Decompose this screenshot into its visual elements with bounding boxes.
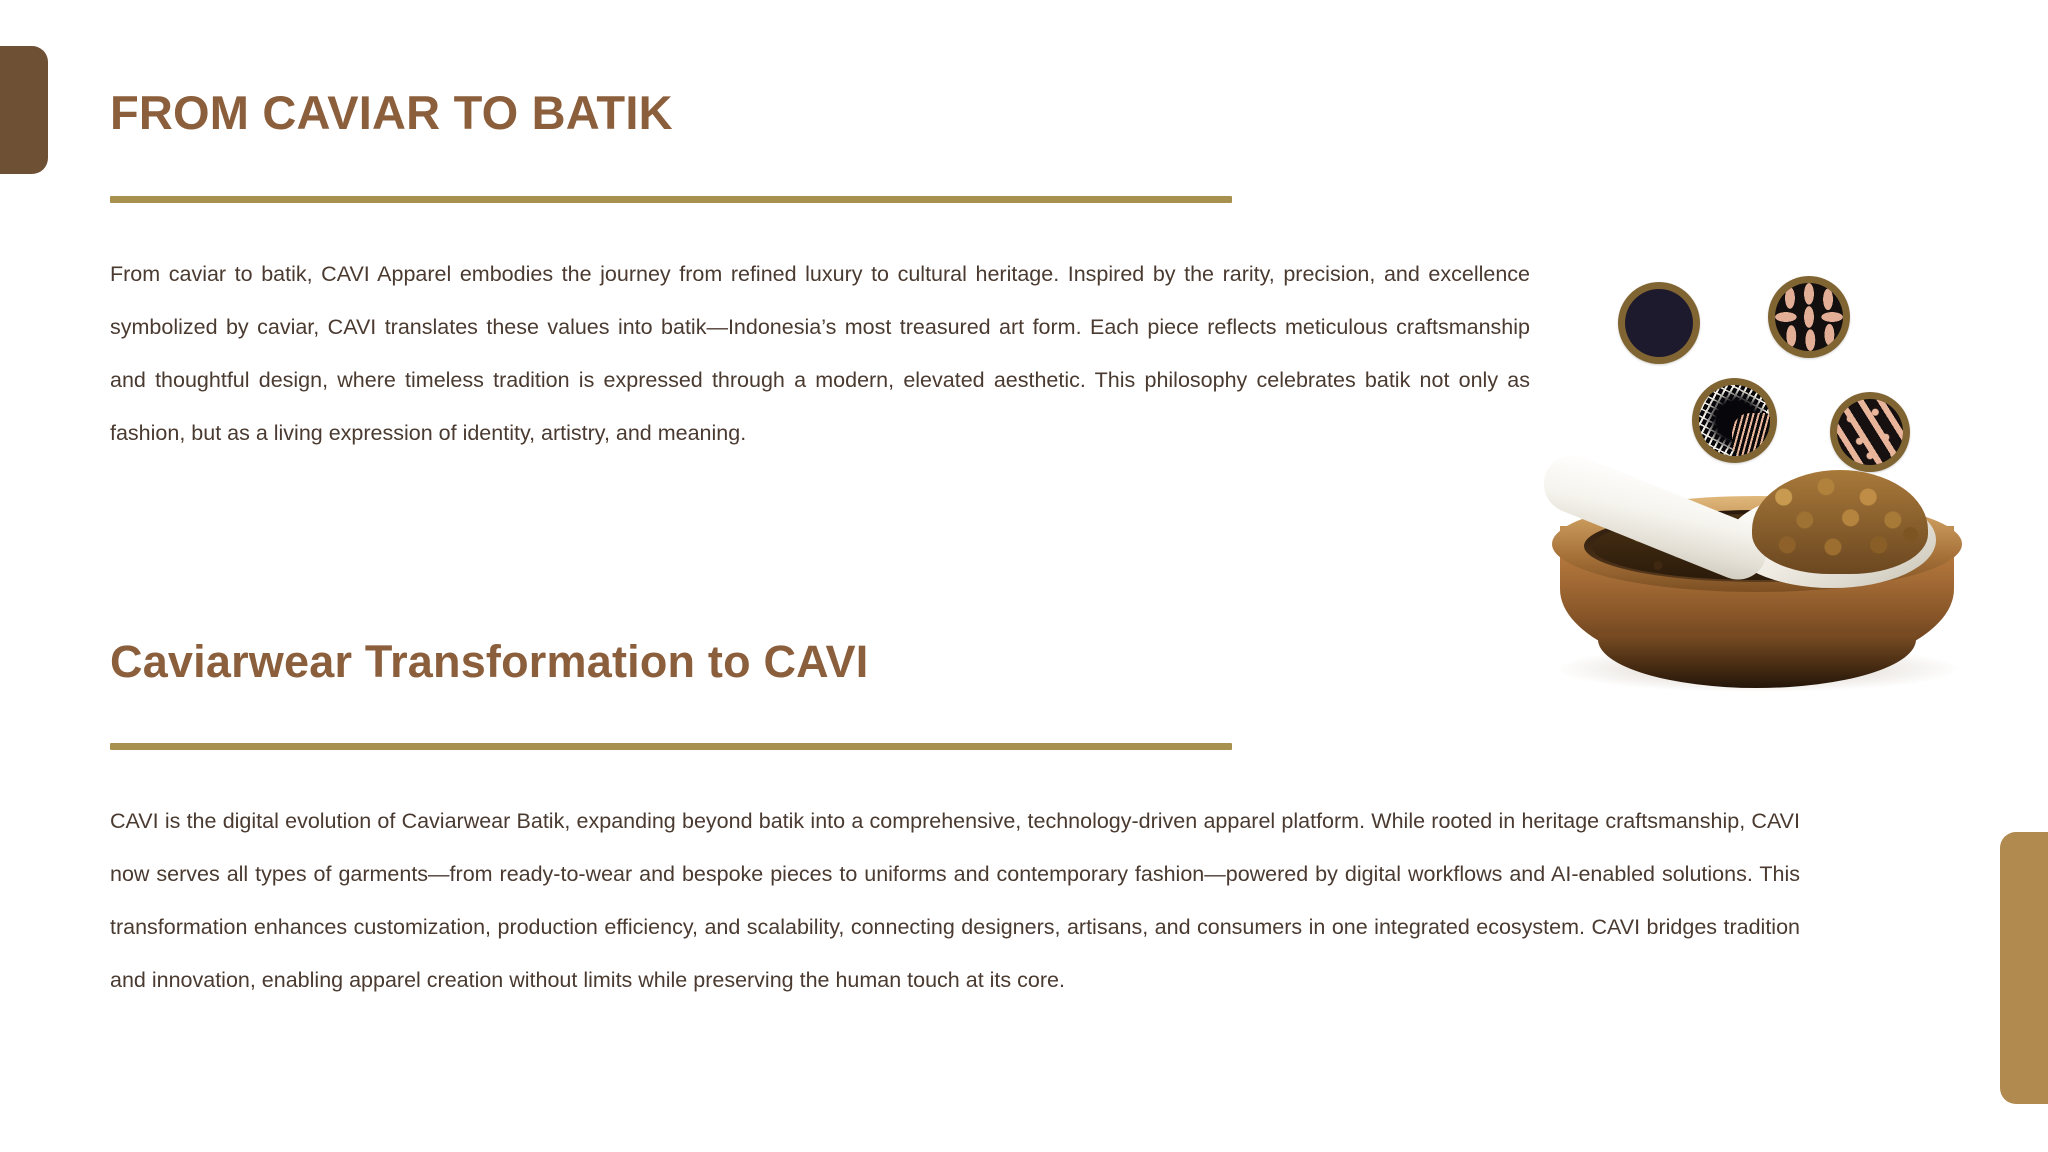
title-divider-2	[110, 743, 1232, 750]
medallion-disc	[1625, 289, 1693, 357]
right-edge-accent-bar	[2000, 832, 2048, 1104]
caviar-batik-illustration	[1540, 250, 1990, 710]
page-title: FROM CAVIAR TO BATIK	[110, 88, 673, 137]
section-title-2: Caviarwear Transformation to CAVI	[110, 638, 868, 685]
caviar-heap	[1752, 470, 1928, 574]
batik-medallion-mega-mendung-icon	[1618, 282, 1700, 364]
medallion-disc	[1775, 283, 1843, 351]
title-divider-1	[110, 196, 1232, 203]
section-body-2: CAVI is the digital evolution of Caviarw…	[110, 795, 1800, 1007]
batik-medallion-petal-icon	[1768, 276, 1850, 358]
section-body-1: From caviar to batik, CAVI Apparel embod…	[110, 248, 1530, 460]
left-edge-accent-bar	[0, 46, 48, 174]
caviar-bowl-image	[1540, 448, 1970, 716]
medallion-disc	[1699, 385, 1770, 456]
